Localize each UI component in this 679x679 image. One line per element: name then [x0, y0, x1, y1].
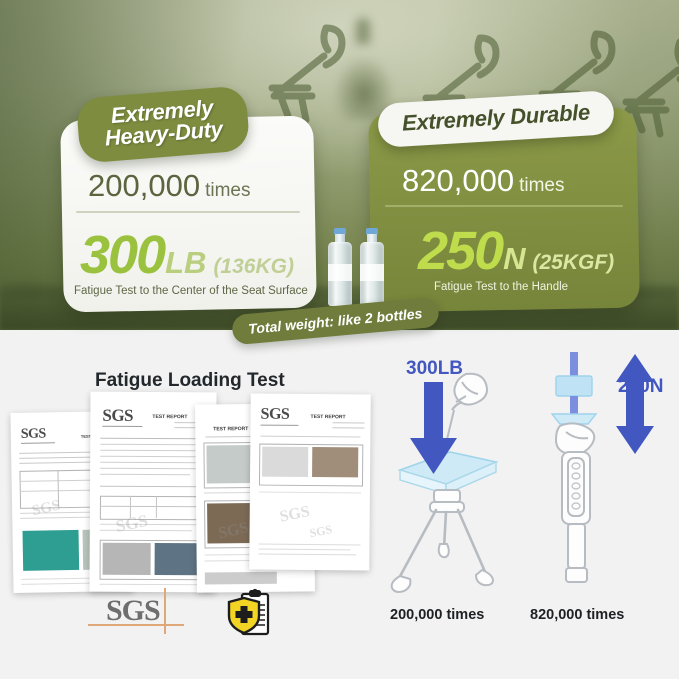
tripod-seat-cane-icon	[378, 352, 518, 594]
sgs-logo: SGS	[106, 594, 168, 628]
sgs-watermark: SGS	[278, 503, 311, 527]
page-title: Fatigue Loading Test	[95, 370, 285, 392]
left-illustration-caption: 200,000 times	[390, 607, 484, 623]
sgs-logo-text: SGS	[106, 594, 160, 628]
sgs-logo-text: SGS	[21, 426, 46, 442]
left-load-value: 300	[80, 225, 164, 285]
infographic-canvas: Extremely Heavy-Duty Extremely Durable 2…	[0, 0, 679, 679]
right-cycle-count: 820,000times	[402, 163, 564, 199]
left-cycle-unit: times	[205, 180, 250, 201]
right-load-metric: (25KGF)	[533, 251, 615, 274]
report-heading: TEST REPORT	[152, 414, 187, 420]
water-bottle-icon	[327, 228, 353, 306]
report-photo	[103, 543, 151, 575]
water-bottle-icon	[359, 228, 385, 306]
left-cycle-count: 200,000times	[88, 168, 250, 204]
report-photo	[155, 543, 203, 575]
report-photo	[206, 445, 253, 483]
right-load-value: 250	[418, 221, 502, 281]
report-photo	[262, 447, 308, 477]
left-load-unit: LB	[165, 245, 206, 280]
left-cycle-value: 200,000	[88, 168, 200, 203]
report-heading: TEST REPORT	[311, 414, 346, 420]
heavy-duty-badge: Extremely Heavy-Duty	[76, 85, 251, 163]
report-photo	[22, 530, 79, 571]
left-divider	[76, 211, 300, 213]
right-illustration-caption: 820,000 times	[530, 607, 624, 623]
sgs-logo-text: SGS	[261, 406, 290, 424]
right-card-caption: Fatigue Test to the Handle	[434, 281, 568, 293]
left-load-metric: (136KG)	[213, 255, 294, 278]
report-photo	[312, 447, 358, 477]
left-card-caption: Fatigue Test to the Center of the Seat S…	[74, 285, 308, 297]
sgs-logo-rule	[164, 588, 166, 634]
right-cycle-value: 820,000	[402, 163, 514, 198]
left-load-rating: 300LB(136KG)	[80, 224, 294, 286]
sgs-watermark: SGS	[308, 522, 333, 541]
walking-cane-handle-icon	[532, 352, 674, 594]
sgs-logo-rule	[88, 624, 184, 626]
walking-stick-seat-silhouette	[258, 16, 378, 126]
water-bottle-pair-icon	[325, 228, 393, 308]
sgs-test-report-document[interactable]: SGS TEST REPORT SGS SGS	[249, 393, 371, 570]
right-cycle-unit: times	[519, 175, 564, 196]
report-heading: TEST REPORT	[213, 426, 248, 432]
shield-certificate-icon	[226, 588, 272, 636]
right-load-rating: 250N(25KGF)	[418, 220, 614, 282]
sgs-logo-text: SGS	[102, 406, 133, 426]
report-footer-bar	[205, 572, 277, 585]
right-load-unit: N	[503, 241, 525, 276]
right-divider	[385, 205, 623, 207]
